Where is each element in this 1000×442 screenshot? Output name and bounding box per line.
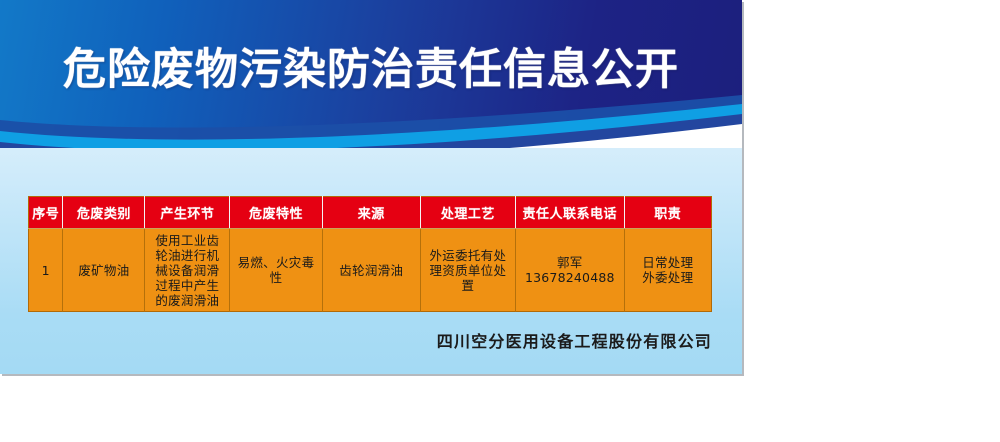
contact-person: 郭军 xyxy=(520,255,620,270)
header-treatment: 处理工艺 xyxy=(420,197,515,229)
company-name: 四川空分医用设备工程股份有限公司 xyxy=(0,328,712,352)
header-hazard: 危废特性 xyxy=(230,197,323,229)
waste-info-table-zone: 序号 危废类别 产生环节 危废特性 来源 处理工艺 责任人联系电话 职责 1 废… xyxy=(28,196,712,312)
cell-seq: 1 xyxy=(29,229,63,312)
cell-process: 使用工业齿轮油进行机械设备润滑过程中产生的废润滑油 xyxy=(145,229,230,312)
hazardous-waste-table: 序号 危废类别 产生环节 危废特性 来源 处理工艺 责任人联系电话 职责 1 废… xyxy=(28,196,712,312)
hazardous-waste-disclosure-poster: 危险废物污染防治责任信息公开 序号 危废类别 产生环节 危废特性 xyxy=(0,0,742,374)
cell-source: 齿轮润滑油 xyxy=(322,229,420,312)
header-seq: 序号 xyxy=(29,197,63,229)
header-source: 来源 xyxy=(322,197,420,229)
cell-contact: 郭军 13678240488 xyxy=(516,229,625,312)
poster-title-container: 危险废物污染防治责任信息公开 xyxy=(0,45,742,95)
contact-phone: 13678240488 xyxy=(520,270,620,285)
table-row: 1 废矿物油 使用工业齿轮油进行机械设备润滑过程中产生的废润滑油 易燃、火灾毒性… xyxy=(29,229,712,312)
duty-line-2: 外委处理 xyxy=(629,270,707,285)
header-process: 产生环节 xyxy=(145,197,230,229)
header-category: 危废类别 xyxy=(63,197,145,229)
header-contact: 责任人联系电话 xyxy=(516,197,625,229)
poster-banner: 危险废物污染防治责任信息公开 xyxy=(0,0,742,148)
header-duty: 职责 xyxy=(624,197,711,229)
poster-title: 危险废物污染防治责任信息公开 xyxy=(63,45,679,95)
cell-duty: 日常处理 外委处理 xyxy=(624,229,711,312)
duty-line-1: 日常处理 xyxy=(629,255,707,270)
table-header-row: 序号 危废类别 产生环节 危废特性 来源 处理工艺 责任人联系电话 职责 xyxy=(29,197,712,229)
cell-treatment: 外运委托有处理资质单位处置 xyxy=(420,229,515,312)
cell-category: 废矿物油 xyxy=(63,229,145,312)
cell-hazard: 易燃、火灾毒性 xyxy=(230,229,323,312)
